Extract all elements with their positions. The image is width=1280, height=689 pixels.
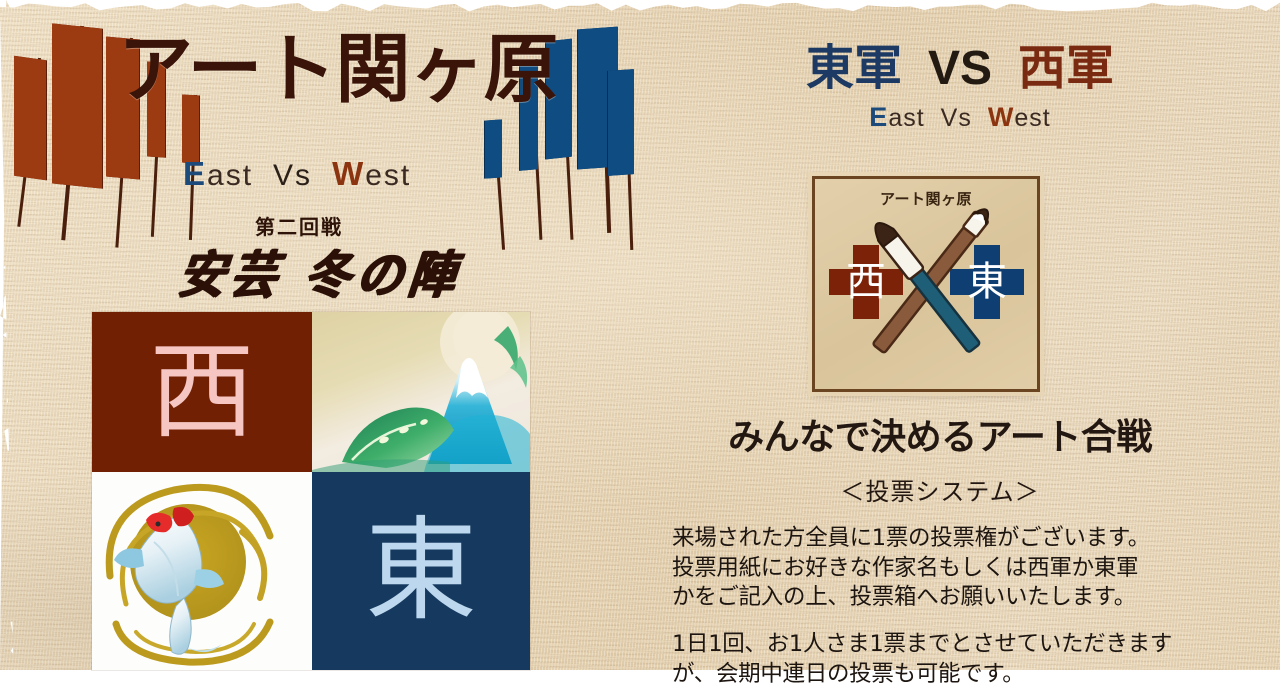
body-line-2: 投票用紙にお好きな作家名もしくは西軍か東軍 xyxy=(672,554,1217,584)
collage-east-panel: 東 xyxy=(312,472,530,670)
artwork-collage: 西 xyxy=(92,312,530,670)
vs-heading-en: EastVsWest xyxy=(700,102,1220,133)
event-emblem-card: アート関ヶ原 西 東 xyxy=(812,176,1040,392)
vs-en-east-rest: ast xyxy=(888,104,924,132)
subtitle-east-rest: ast xyxy=(207,159,253,192)
body-line-4: 1日1回、お1人さま1票までとさせていただきます xyxy=(672,630,1217,660)
subtitle-west-initial: W xyxy=(332,155,365,192)
emblem-west-badge: 西 xyxy=(829,245,903,319)
collage-west-panel: 西 xyxy=(92,312,312,472)
voting-system-heading: ＜投票システム＞ xyxy=(660,472,1220,507)
subtitle-east-initial: E xyxy=(183,155,207,192)
voting-system-body: 来場された方全員に1票の投票権がございます。 投票用紙にお好きな作家名もしくは西… xyxy=(672,524,1217,689)
koi-fish-illustration xyxy=(92,472,312,670)
body-line-3: かをご記入の上、投票箱へお願いいたします。 xyxy=(672,583,1217,613)
emblem-east-badge: 東 xyxy=(950,245,1024,319)
vs-heading-block: 東軍VS西軍 EastVsWest xyxy=(700,42,1220,133)
round-title: 安芸 冬の陣 xyxy=(156,235,484,308)
collage-koi-painting xyxy=(92,472,312,670)
body-line-1: 来場された方全員に1票の投票権がございます。 xyxy=(672,524,1217,554)
title-subtitle-en: EastVsWest xyxy=(183,155,411,193)
subtitle-vs: Vs xyxy=(273,159,312,192)
mount-fuji-illustration xyxy=(312,312,530,472)
tagline: みんなで決めるアート合戦 xyxy=(660,408,1220,460)
vs-west-label: 西軍 xyxy=(1018,40,1114,96)
vs-heading: 東軍VS西軍 xyxy=(700,42,1220,96)
title-block: アート関ヶ原 EastVsWest 第二回戦 安芸 冬の陣 xyxy=(0,0,640,300)
vs-en-separator: Vs xyxy=(941,104,972,132)
east-badge-kanji: 東 xyxy=(950,245,1024,319)
vs-separator: VS xyxy=(928,42,992,95)
vs-east-label: 東軍 xyxy=(806,40,902,96)
page-title: アート関ヶ原 xyxy=(118,32,518,107)
vs-en-east-initial: E xyxy=(869,102,888,132)
collage-east-kanji: 東 xyxy=(312,472,530,670)
collage-west-kanji: 西 xyxy=(92,312,312,472)
body-line-5: が、会期中連日の投票も可能です。 xyxy=(672,660,1217,689)
collage-fuji-painting xyxy=(312,312,530,472)
vs-en-west-rest: est xyxy=(1014,104,1050,132)
west-badge-kanji: 西 xyxy=(829,245,903,319)
vs-en-west-initial: W xyxy=(988,102,1014,132)
subtitle-west-rest: est xyxy=(365,159,411,192)
